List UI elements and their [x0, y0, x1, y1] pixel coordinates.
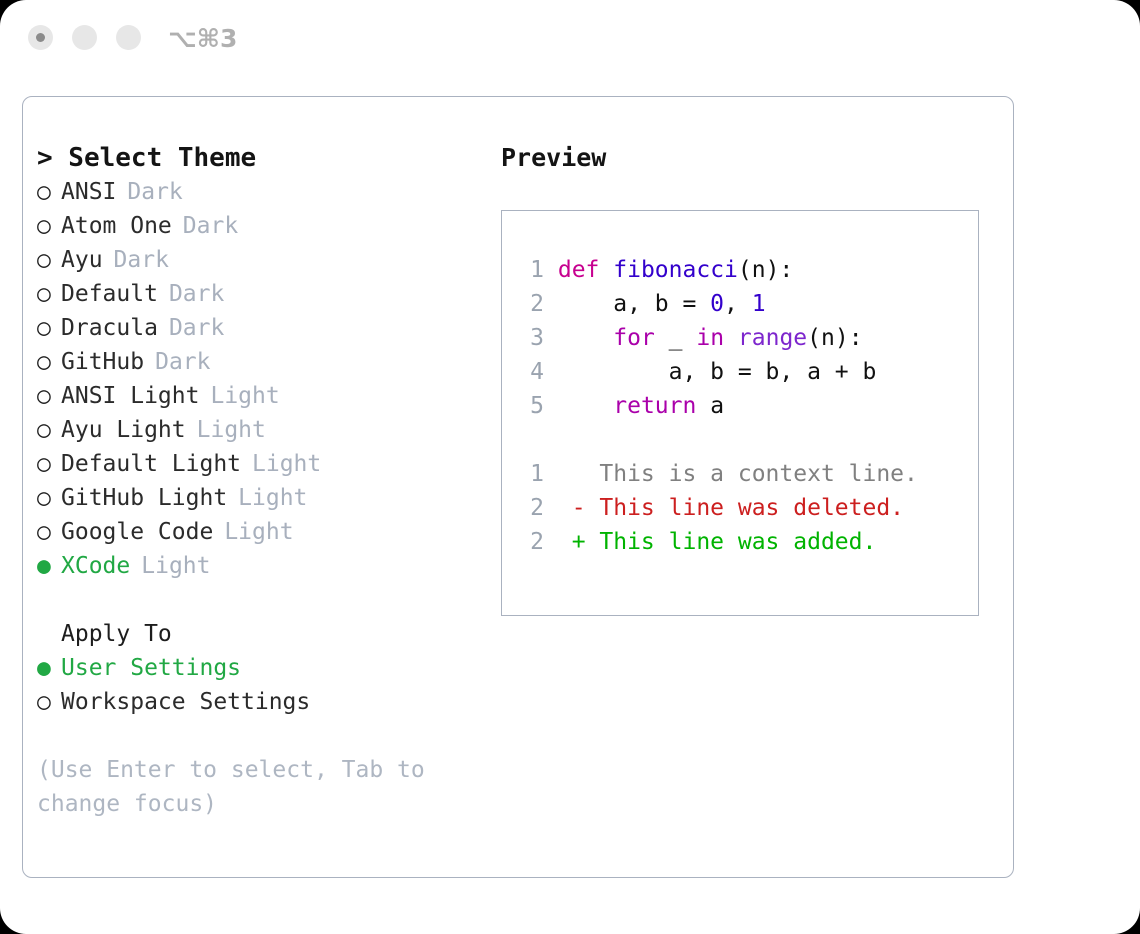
theme-variant-tag: Dark [127, 175, 182, 209]
theme-selector-column: > Select Theme ○ANSIDark○Atom OneDark○Ay… [37, 141, 487, 821]
theme-option[interactable]: ○Default LightLight [37, 447, 487, 481]
theme-variant-tag: Dark [114, 243, 169, 277]
code-line-number: 1 [522, 253, 544, 287]
code-token: return [613, 393, 696, 419]
diff-line-text: This is a context line. [599, 461, 918, 487]
main-panel: > Select Theme ○ANSIDark○Atom OneDark○Ay… [22, 96, 1014, 878]
diff-line-text: This line was added. [599, 529, 876, 555]
select-theme-heading: > Select Theme [37, 141, 487, 175]
radio-unselected-icon[interactable]: ○ [37, 311, 61, 345]
code-token [544, 393, 613, 419]
theme-option[interactable]: ●XCodeLight [37, 549, 487, 583]
code-token: in [696, 325, 724, 351]
diff-marker [544, 461, 599, 487]
theme-variant-tag: Light [252, 447, 321, 481]
theme-variant-tag: Dark [155, 345, 210, 379]
theme-option[interactable]: ○GitHubDark [37, 345, 487, 379]
radio-unselected-icon[interactable]: ○ [37, 277, 61, 311]
preview-box: 1 def fibonacci(n):2 a, b = 0, 13 for _ … [501, 210, 979, 616]
theme-option-label: Default Light [61, 447, 241, 481]
theme-variant-tag: Light [141, 549, 210, 583]
code-token: def [558, 257, 600, 283]
theme-variant-tag: Dark [169, 277, 224, 311]
diff-line-number: 2 [522, 525, 544, 559]
code-line: 1 def fibonacci(n): [522, 253, 918, 287]
code-token [544, 257, 558, 283]
window-dot-active[interactable] [28, 25, 53, 50]
radio-unselected-icon[interactable]: ○ [37, 515, 61, 549]
code-token: (n): [738, 257, 793, 283]
code-token [544, 325, 613, 351]
code-preview: 1 def fibonacci(n):2 a, b = 0, 13 for _ … [522, 253, 918, 559]
theme-option-label: GitHub Light [61, 481, 227, 515]
code-token: 1 [752, 291, 766, 317]
theme-option-label: ANSI [61, 175, 116, 209]
radio-selected-icon[interactable]: ● [37, 549, 61, 583]
code-token: for [613, 325, 655, 351]
window-controls [28, 25, 141, 50]
code-token: a, b = [544, 291, 710, 317]
code-token: a, b = b, a + b [544, 359, 876, 385]
window-dot-third[interactable] [116, 25, 141, 50]
code-spacer [522, 423, 918, 457]
radio-unselected-icon[interactable]: ○ [37, 345, 61, 379]
preview-column: Preview 1 def fibonacci(n):2 a, b = 0, 1… [501, 141, 1001, 616]
code-token: a [696, 393, 724, 419]
diff-line: 2 - This line was deleted. [522, 491, 918, 525]
app-window: ⌥⌘3 > Select Theme ○ANSIDark○Atom OneDar… [0, 0, 1140, 934]
diff-line: 1 This is a context line. [522, 457, 918, 491]
theme-option[interactable]: ○AyuDark [37, 243, 487, 277]
code-line-number: 2 [522, 287, 544, 321]
radio-unselected-icon[interactable]: ○ [37, 209, 61, 243]
keyboard-shortcut-label: ⌥⌘3 [168, 24, 237, 53]
theme-variant-tag: Dark [183, 209, 238, 243]
theme-option[interactable]: ○DefaultDark [37, 277, 487, 311]
theme-option-label: Dracula [61, 311, 158, 345]
diff-line: 2 + This line was added. [522, 525, 918, 559]
keyboard-hint-text: (Use Enter to select, Tab to change focu… [37, 753, 457, 821]
theme-option[interactable]: ○GitHub LightLight [37, 481, 487, 515]
theme-option[interactable]: ○ANSI LightLight [37, 379, 487, 413]
theme-option[interactable]: ○Ayu LightLight [37, 413, 487, 447]
diff-line-number: 2 [522, 491, 544, 525]
radio-unselected-icon[interactable]: ○ [37, 413, 61, 447]
code-line: 4 a, b = b, a + b [522, 355, 918, 389]
theme-option[interactable]: ○Atom OneDark [37, 209, 487, 243]
apply-to-option[interactable]: ●User Settings [37, 651, 487, 685]
code-token: , [724, 291, 752, 317]
apply-to-option-label: User Settings [61, 651, 241, 685]
code-token [599, 257, 613, 283]
theme-variant-tag: Light [224, 515, 293, 549]
theme-option-label: ANSI Light [61, 379, 199, 413]
theme-option-label: Google Code [61, 515, 213, 549]
apply-to-heading: Apply To [37, 617, 487, 651]
radio-unselected-icon[interactable]: ○ [37, 175, 61, 209]
apply-to-option-label: Workspace Settings [61, 685, 310, 719]
theme-option-label: Ayu [61, 243, 103, 277]
preview-heading: Preview [501, 141, 1001, 175]
diff-line-text: This line was deleted. [599, 495, 904, 521]
theme-option-label: XCode [61, 549, 130, 583]
diff-marker: - [544, 495, 599, 521]
radio-unselected-icon[interactable]: ○ [37, 379, 61, 413]
code-token: range [738, 325, 807, 351]
theme-option[interactable]: ○Google CodeLight [37, 515, 487, 549]
radio-unselected-icon[interactable]: ○ [37, 243, 61, 277]
code-line-number: 5 [522, 389, 544, 423]
theme-option-label: Ayu Light [61, 413, 186, 447]
theme-variant-tag: Light [197, 413, 266, 447]
code-token: fibonacci [613, 257, 738, 283]
apply-to-option[interactable]: ○Workspace Settings [37, 685, 487, 719]
theme-variant-tag: Light [210, 379, 279, 413]
code-token: (n): [807, 325, 862, 351]
theme-variant-tag: Light [238, 481, 307, 515]
code-line: 2 a, b = 0, 1 [522, 287, 918, 321]
theme-option-label: Default [61, 277, 158, 311]
code-line: 5 return a [522, 389, 918, 423]
theme-variant-tag: Dark [169, 311, 224, 345]
title-bar: ⌥⌘3 [0, 0, 1140, 78]
theme-option[interactable]: ○DraculaDark [37, 311, 487, 345]
panel-columns: > Select Theme ○ANSIDark○Atom OneDark○Ay… [23, 97, 1013, 877]
window-dot-second[interactable] [72, 25, 97, 50]
radio-selected-icon[interactable]: ● [37, 651, 61, 685]
code-token [724, 325, 738, 351]
apply-to-list[interactable]: ●User Settings○Workspace Settings [37, 651, 487, 719]
window-dot-active-inner [36, 33, 45, 42]
code-token: 0 [710, 291, 724, 317]
theme-list[interactable]: ○ANSIDark○Atom OneDark○AyuDark○DefaultDa… [37, 175, 487, 583]
code-line-number: 3 [522, 321, 544, 355]
diff-marker: + [544, 529, 599, 555]
theme-option-label: GitHub [61, 345, 144, 379]
radio-unselected-icon[interactable]: ○ [37, 481, 61, 515]
code-token: _ [655, 325, 697, 351]
theme-option-label: Atom One [61, 209, 172, 243]
code-line-number: 4 [522, 355, 544, 389]
code-line: 3 for _ in range(n): [522, 321, 918, 355]
theme-option[interactable]: ○ANSIDark [37, 175, 487, 209]
radio-unselected-icon[interactable]: ○ [37, 447, 61, 481]
diff-line-number: 1 [522, 457, 544, 491]
radio-unselected-icon[interactable]: ○ [37, 685, 61, 719]
